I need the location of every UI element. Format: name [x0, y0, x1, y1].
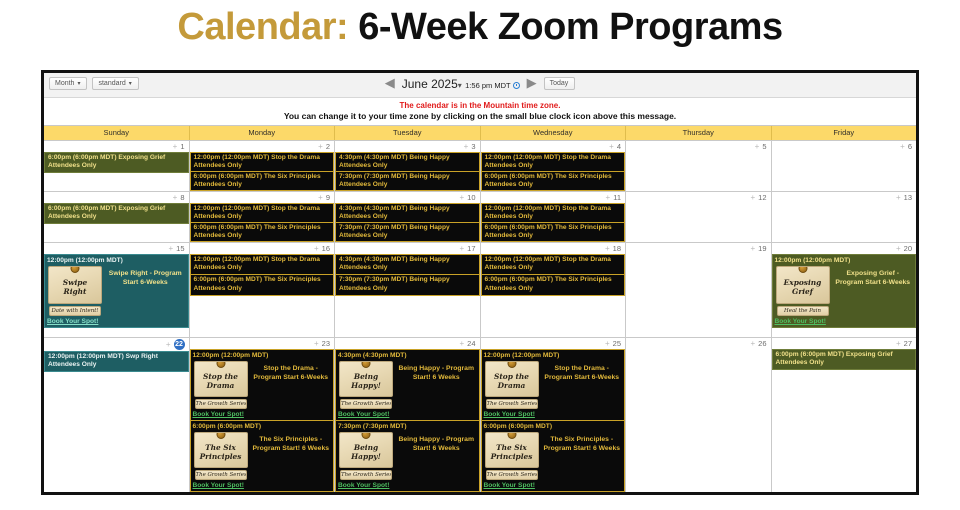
day-number-row: +10	[335, 192, 480, 203]
day-events: 12:00pm (12:00pm MDT)Exposing GriefHeal …	[772, 254, 917, 337]
day-cell-15[interactable]: +1512:00pm (12:00pm MDT)Swipe RightDate …	[44, 243, 190, 337]
parchment-scroll-icon: The Six Principles	[485, 432, 539, 468]
add-event-icon[interactable]: +	[900, 143, 905, 151]
program-thumbnail: The Six PrinciplesThe Growth Series	[193, 432, 249, 480]
day-number[interactable]: 13	[904, 193, 912, 202]
parchment-scroll-icon: Exposing Grief	[776, 266, 830, 304]
program-thumbnail: Being Happy!The Growth Series	[338, 432, 394, 480]
parchment-scroll-icon: Being Happy!	[339, 361, 393, 397]
day-events: 6:00pm (6:00pm MDT) Exposing Grief Atten…	[772, 349, 917, 492]
day-number-row: +22	[44, 338, 189, 351]
program-thumbnail: Swipe RightDate with Intent!	[47, 266, 103, 316]
parchment-scroll-icon: Being Happy!	[339, 432, 393, 468]
event-chip[interactable]: 7:30pm (7:30pm MDT) Being Happy Attendee…	[335, 172, 480, 191]
book-your-spot-link[interactable]: Book Your Spot!	[338, 481, 477, 490]
day-events	[626, 203, 771, 242]
day-number-row: +4	[481, 141, 626, 152]
weekday-header-thursday: Thursday	[626, 126, 772, 140]
day-number[interactable]: 2	[326, 142, 330, 151]
day-number-row: +6	[772, 141, 917, 152]
day-cell-3[interactable]: +34:30pm (4:30pm MDT) Being Happy Attend…	[335, 141, 481, 191]
add-event-icon[interactable]: +	[605, 245, 610, 253]
day-number-row: +11	[481, 192, 626, 203]
event-chip[interactable]: 6:00pm (6:00pm MDT) Exposing Grief Atten…	[44, 152, 189, 173]
program-tagline: The Growth Series	[486, 399, 538, 409]
day-number-row: +2	[190, 141, 335, 152]
event-title: The Six Principles - Program Start! 6 We…	[251, 432, 332, 480]
day-events: 12:00pm (12:00pm MDT) Stop the Drama Att…	[481, 203, 626, 242]
event-card[interactable]: 7:30pm (7:30pm MDT)Being Happy!The Growt…	[335, 421, 480, 492]
book-your-spot-link[interactable]: Book Your Spot!	[484, 481, 623, 490]
program-tagline: The Growth Series	[195, 470, 247, 480]
day-number[interactable]: 26	[758, 339, 766, 348]
book-your-spot-link[interactable]: Book Your Spot!	[484, 410, 623, 419]
event-chip[interactable]: 6:00pm (6:00pm MDT) The Six Principles A…	[190, 172, 335, 191]
event-chip[interactable]: 4:30pm (4:30pm MDT) Being Happy Attendee…	[335, 254, 480, 275]
add-event-icon[interactable]: +	[896, 245, 901, 253]
add-event-icon[interactable]: +	[173, 143, 178, 151]
day-number[interactable]: 24	[467, 339, 475, 348]
event-card-body: The Six PrinciplesThe Growth SeriesThe S…	[484, 432, 623, 480]
timezone-notice-line1: The calendar is in the Mountain time zon…	[44, 100, 916, 111]
event-title: Being Happy - Program Start! 6 Weeks	[396, 432, 477, 480]
day-events	[626, 349, 771, 492]
next-month-icon[interactable]: ▶	[527, 77, 537, 89]
event-chip[interactable]: 6:00pm (6:00pm MDT) The Six Principles A…	[190, 223, 335, 242]
day-events: 12:00pm (12:00pm MDT) Swp Right Attendee…	[44, 351, 189, 492]
page-title-main: 6-Week Zoom Programs	[358, 6, 782, 48]
day-number-row: +3	[335, 141, 480, 152]
event-chip[interactable]: 6:00pm (6:00pm MDT) Exposing Grief Atten…	[772, 349, 917, 370]
event-chip[interactable]: 12:00pm (12:00pm MDT) Stop the Drama Att…	[190, 203, 335, 223]
wax-seal-icon	[71, 266, 80, 273]
day-cell-26[interactable]: +26	[626, 338, 772, 492]
day-cell-20[interactable]: +2012:00pm (12:00pm MDT)Exposing GriefHe…	[772, 243, 917, 337]
add-event-icon[interactable]: +	[750, 194, 755, 202]
day-number[interactable]: 19	[758, 244, 766, 253]
day-number-row: +20	[772, 243, 917, 254]
add-event-icon[interactable]: +	[314, 245, 319, 253]
event-time: 6:00pm (6:00pm MDT)	[193, 423, 332, 431]
weekday-header-tuesday: Tuesday	[335, 126, 481, 140]
day-number[interactable]: 9	[326, 193, 330, 202]
timezone-notice: The calendar is in the Mountain time zon…	[44, 98, 916, 126]
program-thumbnail: Stop the DramaThe Growth Series	[484, 361, 540, 409]
event-chip[interactable]: 6:00pm (6:00pm MDT) The Six Principles A…	[481, 172, 626, 191]
day-number[interactable]: 11	[613, 193, 621, 202]
weekday-header-row: SundayMondayTuesdayWednesdayThursdayFrid…	[44, 126, 916, 140]
day-events	[772, 152, 917, 191]
wax-seal-icon	[507, 432, 516, 439]
event-title: Swipe Right - Program Start 6-Weeks	[105, 266, 186, 316]
day-number-row: +16	[190, 243, 335, 254]
month-text: June 2025	[402, 77, 458, 91]
day-events: 4:30pm (4:30pm MDT) Being Happy Attendee…	[335, 152, 480, 191]
program-tagline: Heal the Pain	[777, 306, 829, 316]
program-thumbnail: The Six PrinciplesThe Growth Series	[484, 432, 540, 480]
event-title: The Six Principles - Program Start! 6 We…	[542, 432, 623, 480]
parchment-scroll-icon: Stop the Drama	[485, 361, 539, 397]
weekday-header-sunday: Sunday	[44, 126, 190, 140]
program-tagline: The Growth Series	[340, 470, 392, 480]
program-thumbnail: Exposing GriefHeal the Pain	[775, 266, 831, 316]
add-event-icon[interactable]: +	[755, 143, 760, 151]
prev-month-icon[interactable]: ◀	[385, 77, 395, 89]
event-chip[interactable]: 12:00pm (12:00pm MDT) Stop the Drama Att…	[190, 254, 335, 275]
event-chip[interactable]: 12:00pm (12:00pm MDT) Stop the Drama Att…	[190, 152, 335, 172]
day-cell-9[interactable]: +912:00pm (12:00pm MDT) Stop the Drama A…	[190, 192, 336, 242]
day-number-row: +17	[335, 243, 480, 254]
day-number-row: +25	[481, 338, 626, 349]
event-chip[interactable]: 6:00pm (6:00pm MDT) The Six Principles A…	[190, 275, 335, 295]
day-events: 12:00pm (12:00pm MDT)Swipe RightDate wit…	[44, 254, 189, 337]
add-event-icon[interactable]: +	[459, 245, 464, 253]
add-event-icon[interactable]: +	[168, 245, 173, 253]
day-cell-23[interactable]: +2312:00pm (12:00pm MDT)Stop the DramaTh…	[190, 338, 336, 492]
add-event-icon[interactable]: +	[609, 143, 614, 151]
book-your-spot-link[interactable]: Book Your Spot!	[775, 317, 914, 326]
add-event-icon[interactable]: +	[896, 340, 901, 348]
day-cell-16[interactable]: +1612:00pm (12:00pm MDT) Stop the Drama …	[190, 243, 336, 337]
day-cell-11[interactable]: +1112:00pm (12:00pm MDT) Stop the Drama …	[481, 192, 627, 242]
day-events: 12:00pm (12:00pm MDT) Stop the Drama Att…	[481, 152, 626, 191]
event-chip[interactable]: 4:30pm (4:30pm MDT) Being Happy Attendee…	[335, 203, 480, 223]
event-time: 12:00pm (12:00pm MDT)	[484, 352, 623, 360]
program-tagline: The Growth Series	[340, 399, 392, 409]
day-events: 12:00pm (12:00pm MDT) Stop the Drama Att…	[190, 152, 335, 191]
add-event-icon[interactable]: +	[459, 340, 464, 348]
wax-seal-icon	[362, 361, 371, 368]
add-event-icon[interactable]: +	[318, 143, 323, 151]
program-name: Stop the Drama	[195, 368, 247, 390]
day-cell-8[interactable]: +86:00pm (6:00pm MDT) Exposing Grief Att…	[44, 192, 190, 242]
day-cell-18[interactable]: +1812:00pm (12:00pm MDT) Stop the Drama …	[481, 243, 627, 337]
program-name: Being Happy!	[340, 439, 392, 461]
day-number-row: +15	[44, 243, 189, 254]
day-number[interactable]: 16	[322, 244, 330, 253]
day-events	[626, 152, 771, 191]
event-chip[interactable]: 7:30pm (7:30pm MDT) Being Happy Attendee…	[335, 223, 480, 242]
day-number[interactable]: 5	[762, 142, 766, 151]
event-card-body: Stop the DramaThe Growth SeriesStop the …	[484, 361, 623, 409]
day-number-row: +12	[626, 192, 771, 203]
day-events: 12:00pm (12:00pm MDT) Stop the Drama Att…	[190, 203, 335, 242]
program-tagline: The Growth Series	[195, 399, 247, 409]
event-card[interactable]: 12:00pm (12:00pm MDT)Swipe RightDate wit…	[44, 254, 189, 328]
day-number[interactable]: 8	[180, 193, 184, 202]
add-event-icon[interactable]: +	[750, 245, 755, 253]
parchment-scroll-icon: Swipe Right	[48, 266, 102, 304]
day-events: 12:00pm (12:00pm MDT)Stop the DramaThe G…	[190, 349, 335, 492]
event-title: Stop the Drama - Program Start 6-Weeks	[542, 361, 623, 409]
day-number-row: +23	[190, 338, 335, 349]
current-month-label: June 2025▾	[402, 77, 465, 91]
weekday-header-monday: Monday	[190, 126, 336, 140]
day-events	[772, 203, 917, 242]
event-card-body: Being Happy!The Growth SeriesBeing Happy…	[338, 361, 477, 409]
day-cell-4[interactable]: +412:00pm (12:00pm MDT) Stop the Drama A…	[481, 141, 627, 191]
event-time: 4:30pm (4:30pm MDT)	[338, 352, 477, 360]
current-time-text: 1:56 pm MDT	[465, 81, 510, 90]
event-time: 12:00pm (12:00pm MDT)	[193, 352, 332, 360]
today-button[interactable]: Today	[544, 77, 576, 90]
clock-icon[interactable]	[513, 82, 520, 89]
day-events: 12:00pm (12:00pm MDT)Stop the DramaThe G…	[481, 349, 626, 492]
add-event-icon[interactable]: +	[606, 194, 611, 202]
day-events	[626, 254, 771, 337]
event-chip[interactable]: 6:00pm (6:00pm MDT) Exposing Grief Atten…	[44, 203, 189, 224]
book-your-spot-link[interactable]: Book Your Spot!	[193, 410, 332, 419]
event-time: 12:00pm (12:00pm MDT)	[775, 257, 914, 265]
day-number[interactable]: 20	[904, 244, 912, 253]
day-number[interactable]: 27	[904, 339, 912, 348]
day-cell-19[interactable]: +19	[626, 243, 772, 337]
day-number[interactable]: 6	[908, 142, 912, 151]
day-number[interactable]: 1	[180, 142, 184, 151]
add-event-icon[interactable]: +	[459, 194, 464, 202]
day-events: 4:30pm (4:30pm MDT)Being Happy!The Growt…	[335, 349, 480, 492]
add-event-icon[interactable]: +	[318, 194, 323, 202]
day-number[interactable]: 18	[613, 244, 621, 253]
day-number[interactable]: 17	[467, 244, 475, 253]
event-chip[interactable]: 7:30pm (7:30pm MDT) Being Happy Attendee…	[335, 275, 480, 295]
day-cell-1[interactable]: +16:00pm (6:00pm MDT) Exposing Grief Att…	[44, 141, 190, 191]
event-title: Being Happy - Program Start! 6 Weeks	[396, 361, 477, 409]
day-number-row: +26	[626, 338, 771, 349]
book-your-spot-link[interactable]: Book Your Spot!	[338, 410, 477, 419]
month-selector[interactable]: June 2025▾ 1:56 pm MDT	[402, 75, 520, 93]
day-number-row: +18	[481, 243, 626, 254]
add-event-icon[interactable]: +	[896, 194, 901, 202]
event-chip[interactable]: 6:00pm (6:00pm MDT) The Six Principles A…	[481, 223, 626, 242]
current-time-label: 1:56 pm MDT	[465, 81, 519, 90]
event-card-body: Stop the DramaThe Growth SeriesStop the …	[193, 361, 332, 409]
calendar-grid: +16:00pm (6:00pm MDT) Exposing Grief Att…	[44, 140, 916, 492]
weekday-header-wednesday: Wednesday	[481, 126, 627, 140]
add-event-icon[interactable]: +	[605, 340, 610, 348]
day-cell-24[interactable]: +244:30pm (4:30pm MDT)Being Happy!The Gr…	[335, 338, 481, 492]
event-time: 12:00pm (12:00pm MDT)	[47, 257, 186, 265]
day-number[interactable]: 3	[471, 142, 475, 151]
day-number[interactable]: 25	[613, 339, 621, 348]
event-chip[interactable]: 12:00pm (12:00pm MDT) Stop the Drama Att…	[481, 203, 626, 223]
day-number[interactable]: 10	[467, 193, 475, 202]
day-number-row: +27	[772, 338, 917, 349]
chevron-down-icon: ▾	[458, 81, 462, 90]
day-number-row: +13	[772, 192, 917, 203]
day-number[interactable]: 4	[617, 142, 621, 151]
event-chip[interactable]: 12:00pm (12:00pm MDT) Stop the Drama Att…	[481, 254, 626, 275]
day-events: 4:30pm (4:30pm MDT) Being Happy Attendee…	[335, 254, 480, 337]
day-cell-25[interactable]: +2512:00pm (12:00pm MDT)Stop the DramaTh…	[481, 338, 627, 492]
wax-seal-icon	[507, 361, 516, 368]
add-event-icon[interactable]: +	[173, 194, 178, 202]
event-card[interactable]: 12:00pm (12:00pm MDT)Stop the DramaThe G…	[481, 349, 626, 421]
event-chip[interactable]: 12:00pm (12:00pm MDT) Swp Right Attendee…	[44, 351, 189, 372]
event-time: 6:00pm (6:00pm MDT)	[484, 423, 623, 431]
event-card[interactable]: 12:00pm (12:00pm MDT)Exposing GriefHeal …	[772, 254, 917, 328]
program-tagline: The Growth Series	[486, 470, 538, 480]
weekday-header-friday: Friday	[772, 126, 917, 140]
wax-seal-icon	[798, 266, 807, 273]
day-number-row: +19	[626, 243, 771, 254]
event-chip[interactable]: 12:00pm (12:00pm MDT) Stop the Drama Att…	[481, 152, 626, 172]
event-card[interactable]: 4:30pm (4:30pm MDT)Being Happy!The Growt…	[335, 349, 480, 421]
event-card-body: The Six PrinciplesThe Growth SeriesThe S…	[193, 432, 332, 480]
day-events: 6:00pm (6:00pm MDT) Exposing Grief Atten…	[44, 152, 189, 191]
day-cell-22[interactable]: +2212:00pm (12:00pm MDT) Swp Right Atten…	[44, 338, 190, 492]
add-event-icon[interactable]: +	[464, 143, 469, 151]
event-card-body: Exposing GriefHeal the PainExposing Grie…	[775, 266, 914, 316]
day-cell-17[interactable]: +174:30pm (4:30pm MDT) Being Happy Atten…	[335, 243, 481, 337]
day-number-today[interactable]: 22	[174, 339, 185, 350]
program-thumbnail: Being Happy!The Growth Series	[338, 361, 394, 409]
day-number-row: +9	[190, 192, 335, 203]
wax-seal-icon	[216, 432, 225, 439]
event-card-body: Swipe RightDate with Intent!Swipe Right …	[47, 266, 186, 316]
wax-seal-icon	[216, 361, 225, 368]
book-your-spot-link[interactable]: Book Your Spot!	[193, 481, 332, 490]
day-cell-6[interactable]: +6	[772, 141, 917, 191]
day-cell-13[interactable]: +13	[772, 192, 917, 242]
calendar-week-row: +2212:00pm (12:00pm MDT) Swp Right Atten…	[44, 337, 916, 492]
calendar-widget: Month▾ standard▾ ◀ June 2025▾ 1:56 pm MD…	[41, 70, 919, 495]
event-chip[interactable]: 4:30pm (4:30pm MDT) Being Happy Attendee…	[335, 152, 480, 172]
program-name: Exposing Grief	[777, 274, 829, 296]
day-number-row: +24	[335, 338, 480, 349]
day-cell-27[interactable]: +276:00pm (6:00pm MDT) Exposing Grief At…	[772, 338, 917, 492]
program-name: The Six Principles	[195, 439, 247, 461]
page-title: Calendar: 6-Week Zoom Programs	[0, 0, 960, 46]
day-events: 6:00pm (6:00pm MDT) Exposing Grief Atten…	[44, 203, 189, 242]
program-name: Stop the Drama	[486, 368, 538, 390]
add-event-icon[interactable]: +	[314, 340, 319, 348]
program-name: Swipe Right	[49, 274, 101, 296]
day-cell-10[interactable]: +104:30pm (4:30pm MDT) Being Happy Atten…	[335, 192, 481, 242]
day-number-row: +1	[44, 141, 189, 152]
day-events: 12:00pm (12:00pm MDT) Stop the Drama Att…	[481, 254, 626, 337]
calendar-toolbar: Month▾ standard▾ ◀ June 2025▾ 1:56 pm MD…	[44, 73, 916, 98]
program-thumbnail: Stop the DramaThe Growth Series	[193, 361, 249, 409]
book-your-spot-link[interactable]: Book Your Spot!	[47, 317, 186, 326]
day-events: 4:30pm (4:30pm MDT) Being Happy Attendee…	[335, 203, 480, 242]
day-number[interactable]: 15	[176, 244, 184, 253]
day-events: 12:00pm (12:00pm MDT) Stop the Drama Att…	[190, 254, 335, 337]
page-title-accent: Calendar:	[177, 6, 348, 48]
parchment-scroll-icon: The Six Principles	[194, 432, 248, 468]
event-card-body: Being Happy!The Growth SeriesBeing Happy…	[338, 432, 477, 480]
timezone-notice-line2: You can change it to your time zone by c…	[44, 111, 916, 122]
calendar-week-row: +86:00pm (6:00pm MDT) Exposing Grief Att…	[44, 191, 916, 242]
day-cell-12[interactable]: +12	[626, 192, 772, 242]
event-card[interactable]: 12:00pm (12:00pm MDT)Stop the DramaThe G…	[190, 349, 335, 421]
day-cell-2[interactable]: +212:00pm (12:00pm MDT) Stop the Drama A…	[190, 141, 336, 191]
add-event-icon[interactable]: +	[166, 341, 171, 349]
event-title: Exposing Grief - Program Start 6-Weeks	[833, 266, 914, 316]
event-chip[interactable]: 6:00pm (6:00pm MDT) The Six Principles A…	[481, 275, 626, 295]
calendar-week-row: +16:00pm (6:00pm MDT) Exposing Grief Att…	[44, 140, 916, 191]
program-name: Being Happy!	[340, 368, 392, 390]
wax-seal-icon	[362, 432, 371, 439]
program-tagline: Date with Intent!	[49, 306, 101, 316]
day-number-row: +5	[626, 141, 771, 152]
add-event-icon[interactable]: +	[750, 340, 755, 348]
event-title: Stop the Drama - Program Start 6-Weeks	[251, 361, 332, 409]
parchment-scroll-icon: Stop the Drama	[194, 361, 248, 397]
event-time: 7:30pm (7:30pm MDT)	[338, 423, 477, 431]
day-number-row: +8	[44, 192, 189, 203]
calendar-week-row: +1512:00pm (12:00pm MDT)Swipe RightDate …	[44, 242, 916, 337]
day-number[interactable]: 12	[758, 193, 766, 202]
day-number[interactable]: 23	[322, 339, 330, 348]
day-cell-5[interactable]: +5	[626, 141, 772, 191]
event-card[interactable]: 6:00pm (6:00pm MDT)The Six PrinciplesThe…	[190, 421, 335, 492]
program-name: The Six Principles	[486, 439, 538, 461]
event-card[interactable]: 6:00pm (6:00pm MDT)The Six PrinciplesThe…	[481, 421, 626, 492]
